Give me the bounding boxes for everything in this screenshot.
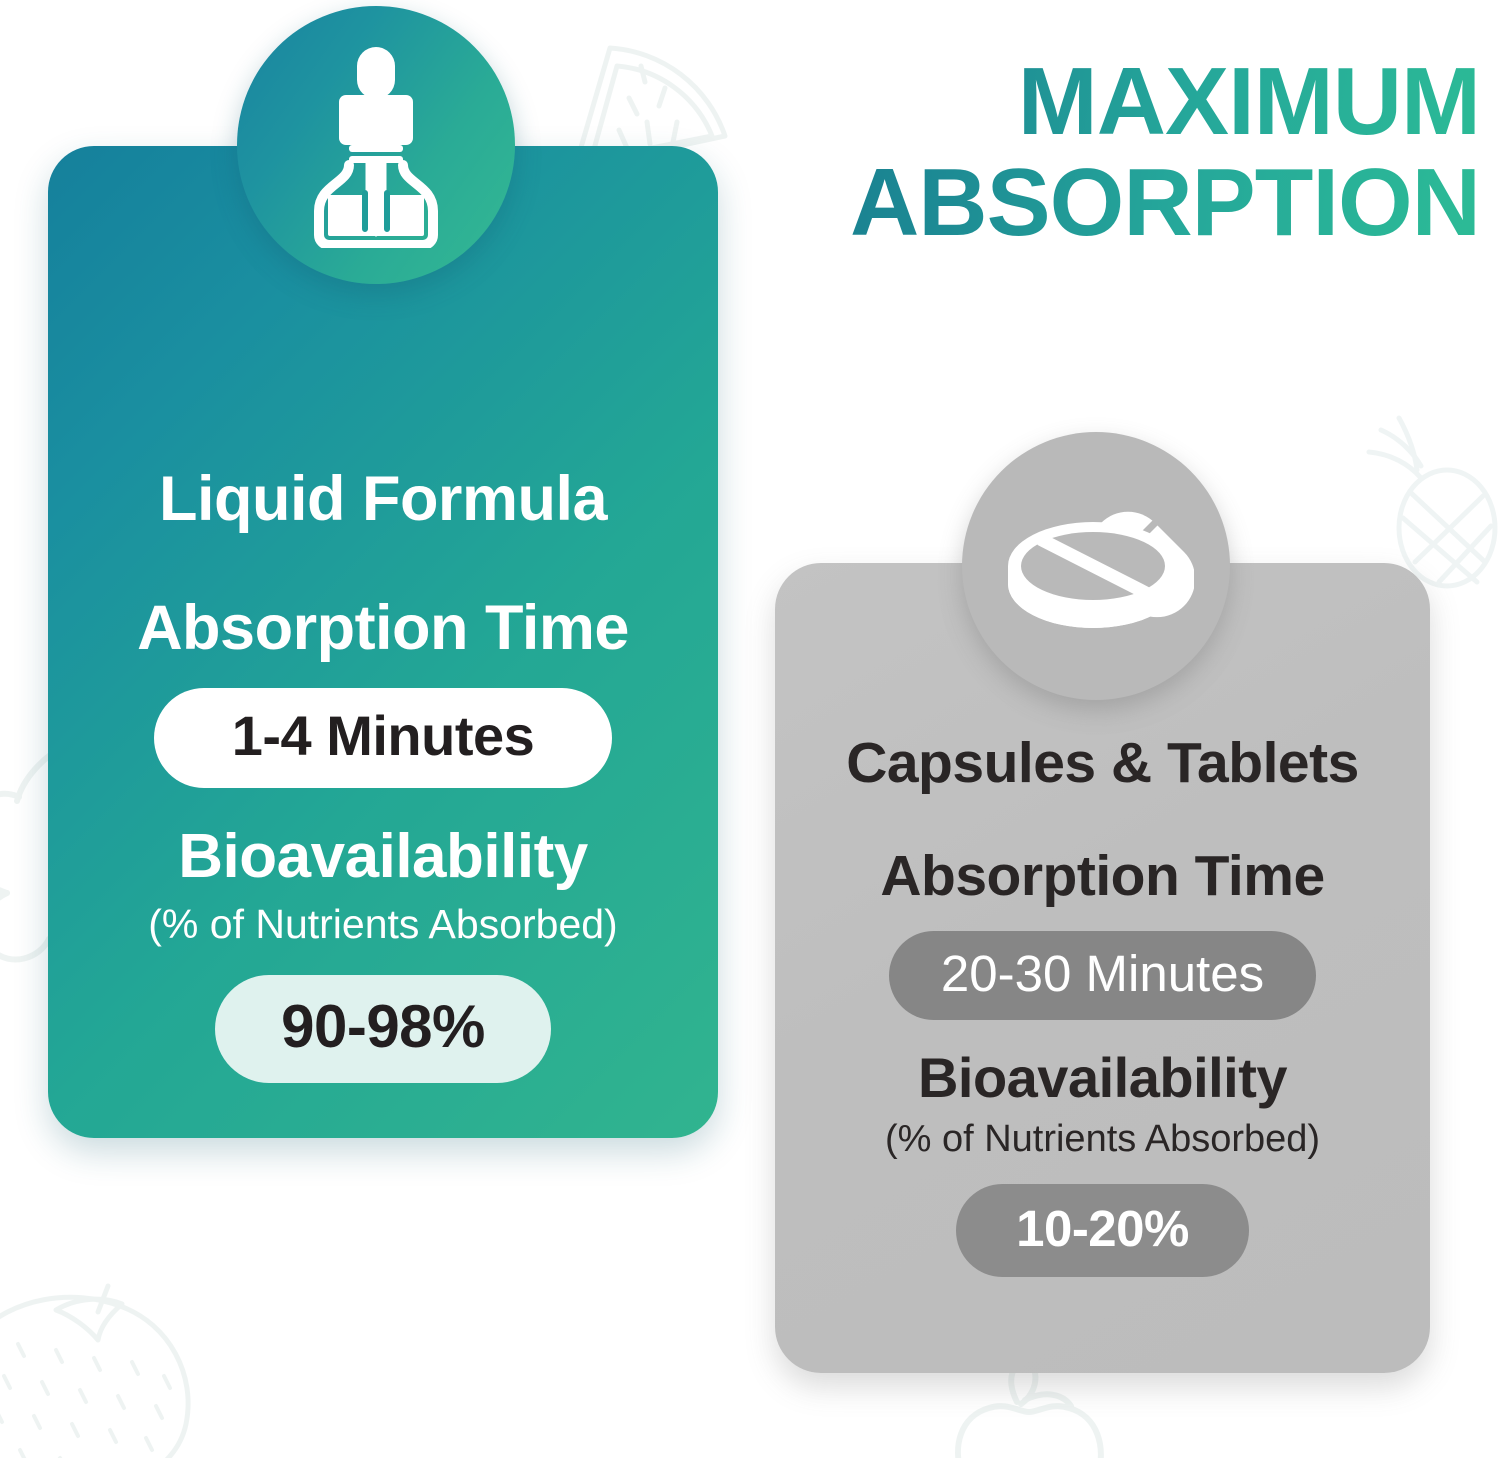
pills-card-content: Capsules & Tablets Absorption Time 20-30… — [775, 735, 1430, 1277]
pills-bioavailability-value: 10-20% — [956, 1184, 1249, 1277]
liquid-card-title: Liquid Formula — [66, 468, 700, 531]
strawberry-watermark — [0, 1258, 220, 1458]
liquid-bioavailability-note: (% of Nutrients Absorbed) — [66, 904, 700, 945]
liquid-card-content: Liquid Formula Absorption Time 1-4 Minut… — [48, 468, 718, 1083]
pills-bioavailability-note: (% of Nutrients Absorbed) — [791, 1120, 1414, 1158]
liquid-absorption-time-label: Absorption Time — [66, 597, 700, 660]
page-title-line-2: ABSORPTION — [760, 153, 1480, 254]
liquid-formula-card: Liquid Formula Absorption Time 1-4 Minut… — [48, 146, 718, 1138]
pills-absorption-time-label: Absorption Time — [791, 848, 1414, 905]
pills-bioavailability-label: Bioavailability — [791, 1050, 1414, 1106]
tablet-capsule-icon — [962, 432, 1230, 700]
page-title: MAXIMUM ABSORPTION — [760, 52, 1480, 254]
page-title-line-1: MAXIMUM — [760, 52, 1480, 153]
liquid-bioavailability-value: 90-98% — [215, 975, 551, 1083]
dropper-bottle-icon — [237, 6, 515, 284]
infographic-canvas: MAXIMUM ABSORPTION Liquid Formula Absorp… — [0, 0, 1500, 1458]
liquid-bioavailability-label: Bioavailability — [66, 826, 700, 888]
pills-card-title: Capsules & Tablets — [791, 735, 1414, 792]
liquid-absorption-time-value: 1-4 Minutes — [154, 688, 613, 788]
pills-absorption-time-value: 20-30 Minutes — [889, 931, 1316, 1020]
